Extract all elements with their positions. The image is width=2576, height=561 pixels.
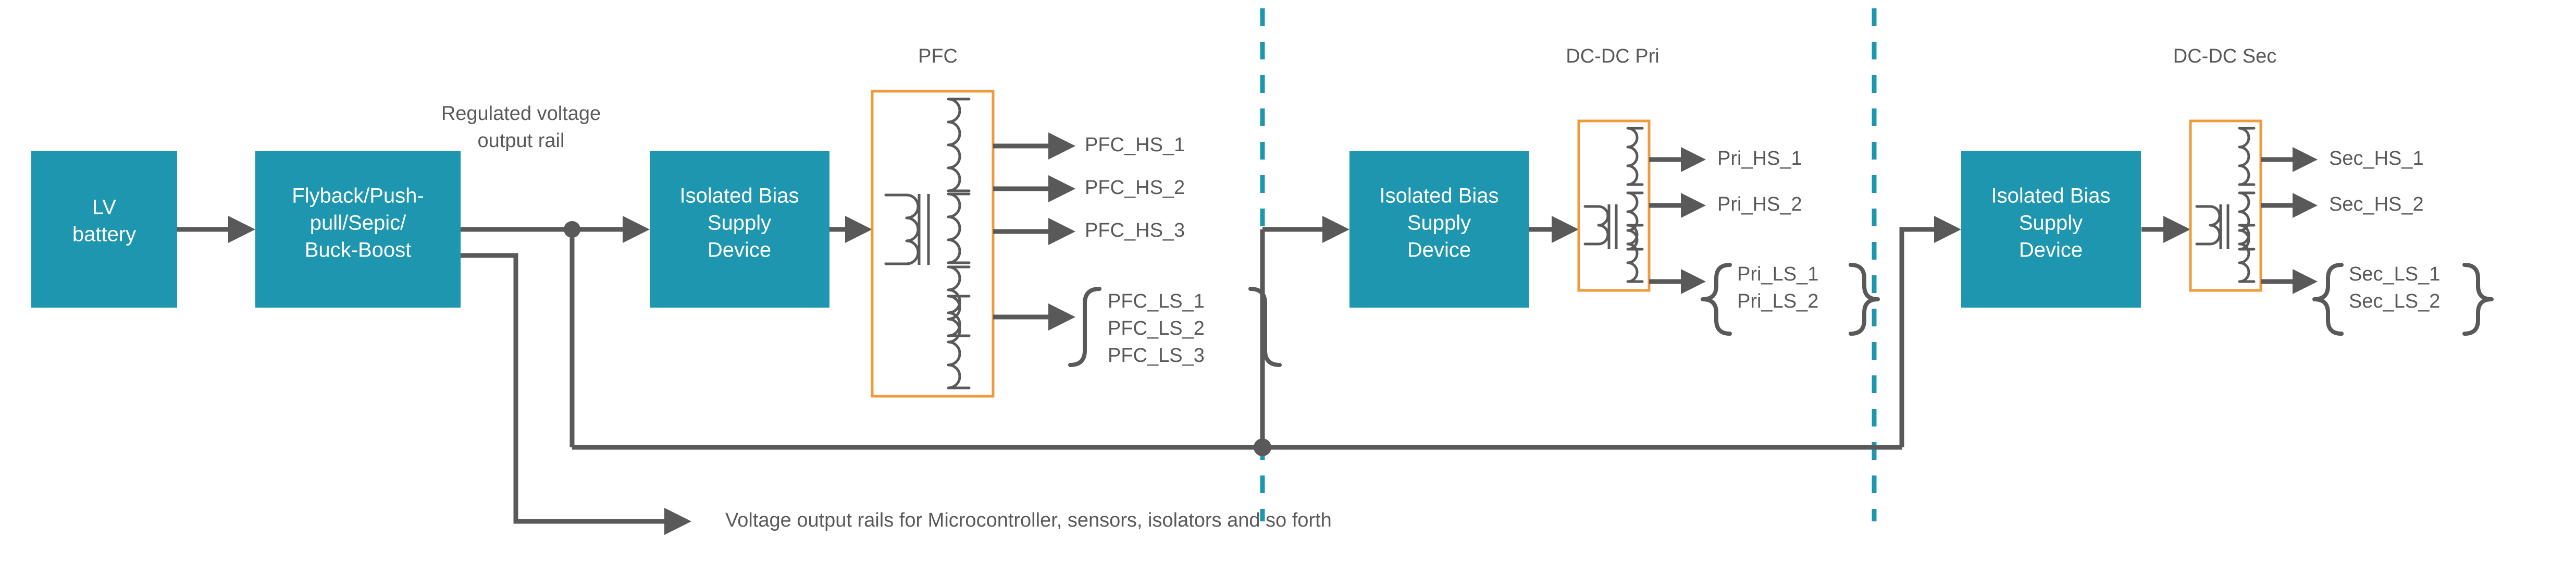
arrowhead-pri-hs1 — [1681, 147, 1706, 172]
front-end-converter-label-line-1: Flyback/Push- — [292, 185, 424, 208]
signal-label-sec-ls-2: Sec_LS_2 — [2349, 290, 2440, 312]
arrowhead-pri-ls-group — [1681, 269, 1706, 294]
transformer-dc-dc-pri[interactable]: DC-DC Pri — [1566, 45, 1659, 290]
regulated-rail-label-line-1: Regulated voltage — [441, 103, 601, 125]
isolated-bias-supply-1-label-line-2: Supply — [708, 212, 771, 235]
transformer-dc-dc-sec-title: DC-DC Sec — [2173, 45, 2276, 67]
isolated-bias-supply-3-label-line-1: Isolated Bias — [1991, 185, 2110, 208]
transformer-dc-dc-sec[interactable]: DC-DC Sec — [2173, 45, 2276, 290]
arrowhead-aux-rails — [664, 508, 691, 535]
junction-dot-bus-bias2 — [1254, 438, 1271, 456]
block-isolated-bias-supply-1[interactable]: Isolated Bias Supply Device — [650, 151, 829, 308]
signal-label-pfc-ls-1: PFC_LS_1 — [1108, 290, 1205, 312]
arrowhead-pfc-ls-group — [1048, 303, 1075, 331]
transformer-pfc[interactable]: PFC — [872, 45, 993, 396]
transformer-pfc-output-arrows — [993, 132, 1075, 331]
arrowhead-pri-hs2 — [1681, 193, 1706, 218]
isolated-bias-supply-1-label-line-1: Isolated Bias — [679, 185, 799, 208]
block-isolated-bias-supply-2[interactable]: Isolated Bias Supply Device — [1349, 151, 1529, 308]
signal-label-sec-hs-1: Sec_HS_1 — [2329, 148, 2424, 169]
brace-right-sec-ls — [2464, 265, 2492, 334]
signal-label-pri-hs-1: Pri_HS_1 — [1717, 148, 1802, 169]
arrowhead-converter-to-bias1 — [623, 216, 650, 243]
signal-label-pfc-hs-1: PFC_HS_1 — [1085, 134, 1185, 156]
block-lv-battery[interactable]: LV battery — [31, 151, 177, 308]
lv-battery-label-line-1: LV — [92, 196, 116, 219]
isolated-bias-supply-2-label-line-2: Supply — [1407, 212, 1471, 235]
pfc-ls-group: PFC_LS_1 PFC_LS_2 PFC_LS_3 — [1070, 289, 1280, 367]
signal-label-pfc-ls-2: PFC_LS_2 — [1108, 318, 1205, 339]
arrowhead-bias3-to-dcdcsec — [2163, 216, 2190, 243]
brace-left-pfc-ls — [1070, 289, 1099, 365]
arrowhead-pfc-hs2 — [1048, 175, 1075, 202]
signal-label-pri-ls-2: Pri_LS_2 — [1737, 290, 1818, 312]
arrowhead-bus-to-bias2 — [1322, 216, 1349, 243]
brace-left-pri-ls — [1703, 265, 1730, 334]
transformer-pfc-outline — [872, 91, 993, 396]
transformer-dc-dc-sec-output-arrows — [2261, 147, 2318, 294]
signal-label-pri-hs-2: Pri_HS_2 — [1717, 193, 1802, 215]
regulated-rail-annotation: Regulated voltage output rail — [441, 103, 601, 152]
block-diagram-canvas: LV battery Flyback/Push- pull/Sepic/ Buc… — [0, 0, 2576, 561]
brace-left-sec-ls — [2314, 265, 2342, 334]
aux-rail-note-label: Voltage output rails for Microcontroller… — [725, 509, 1332, 531]
lv-battery-label-line-2: battery — [72, 223, 136, 246]
arrowhead-sec-ls-group — [2293, 269, 2318, 294]
front-end-converter-label-line-2: pull/Sepic/ — [310, 212, 406, 235]
brace-right-pfc-ls — [1250, 289, 1280, 365]
isolated-bias-supply-2-label-line-1: Isolated Bias — [1379, 185, 1498, 208]
arrowhead-bias1-to-pfc — [845, 216, 872, 243]
signal-label-pfc-hs-2: PFC_HS_2 — [1085, 177, 1185, 199]
isolated-bias-supply-1-label-line-3: Device — [708, 239, 771, 262]
transformer-dc-dc-pri-output-arrows — [1649, 147, 1706, 294]
transformer-dc-dc-pri-title: DC-DC Pri — [1566, 45, 1659, 67]
signal-label-pfc-ls-3: PFC_LS_3 — [1108, 345, 1205, 367]
arrowhead-bias2-to-dcdcpri — [1552, 216, 1579, 243]
isolated-bias-supply-2-label-line-3: Device — [1407, 239, 1471, 262]
isolated-bias-supply-3-label-line-2: Supply — [2019, 212, 2083, 235]
arrowhead-sec-hs1 — [2293, 147, 2318, 172]
arrowhead-battery-to-converter — [228, 216, 255, 243]
front-end-converter-label-line-3: Buck-Boost — [305, 239, 412, 262]
arrowhead-sec-hs2 — [2293, 193, 2318, 218]
signal-label-sec-hs-2: Sec_HS_2 — [2329, 193, 2424, 215]
block-isolated-bias-supply-3[interactable]: Isolated Bias Supply Device — [1961, 151, 2141, 308]
wire-converter-to-aux-rails — [461, 255, 664, 521]
arrowhead-pfc-hs1 — [1048, 132, 1075, 160]
arrowhead-bus-to-bias3 — [1934, 216, 1961, 243]
arrowhead-pfc-hs3 — [1048, 218, 1075, 245]
signal-label-pfc-hs-3: PFC_HS_3 — [1085, 219, 1185, 241]
signal-label-pri-ls-1: Pri_LS_1 — [1737, 263, 1818, 285]
signal-label-sec-ls-1: Sec_LS_1 — [2349, 263, 2440, 285]
pri-ls-group: Pri_LS_1 Pri_LS_2 — [1703, 263, 1878, 334]
sec-ls-group: Sec_LS_1 Sec_LS_2 — [2314, 263, 2492, 334]
isolated-bias-supply-3-label-line-3: Device — [2019, 239, 2083, 262]
block-front-end-converter[interactable]: Flyback/Push- pull/Sepic/ Buck-Boost — [255, 151, 461, 308]
transformer-pfc-title: PFC — [918, 45, 958, 67]
regulated-rail-label-line-2: output rail — [478, 130, 565, 152]
wire-bus-to-bias3 — [1902, 229, 1934, 447]
diagram-svg: LV battery Flyback/Push- pull/Sepic/ Buc… — [0, 0, 2576, 561]
